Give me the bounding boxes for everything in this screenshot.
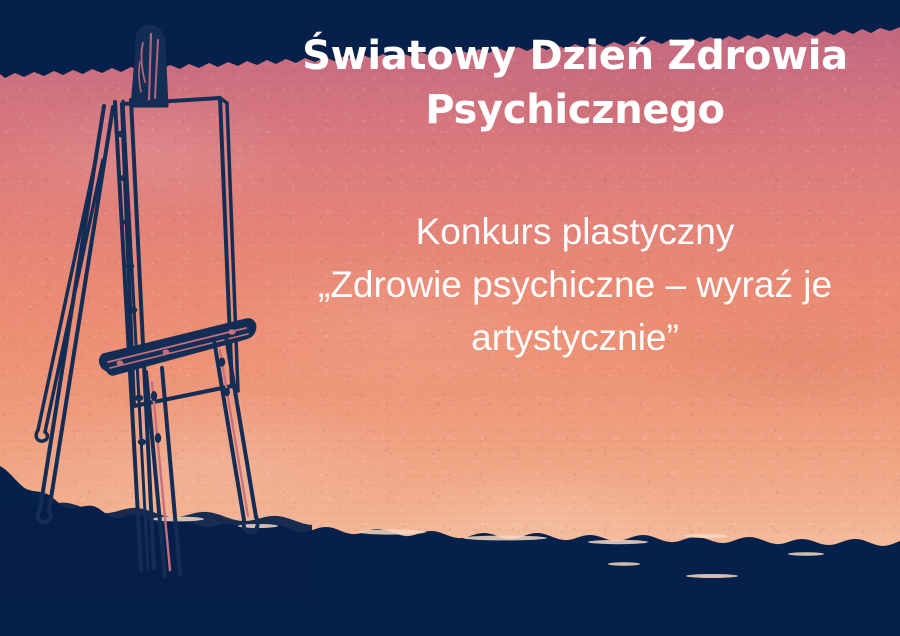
subheadline-line-1: Konkurs plastyczny [250, 206, 900, 259]
subheadline-line-3: artystycznie” [250, 312, 900, 365]
text-block: Światowy Dzień Zdrowia Psychicznego Konk… [250, 0, 900, 636]
subheadline-line-2: „Zdrowie psychiczne – wyraź je [250, 259, 900, 312]
page-subtitle: Konkurs plastyczny „Zdrowie psychiczne –… [250, 206, 900, 365]
headline-line-2: Psychicznego [250, 84, 900, 138]
easel-rear-brace [36, 158, 103, 441]
page-title: Światowy Dzień Zdrowia Psychicznego [250, 30, 900, 137]
easel-finial [132, 26, 167, 106]
poster-canvas: Światowy Dzień Zdrowia Psychicznego Konk… [0, 0, 900, 636]
headline-line-1: Światowy Dzień Zdrowia [250, 30, 900, 84]
easel-centre-mast [115, 100, 154, 570]
